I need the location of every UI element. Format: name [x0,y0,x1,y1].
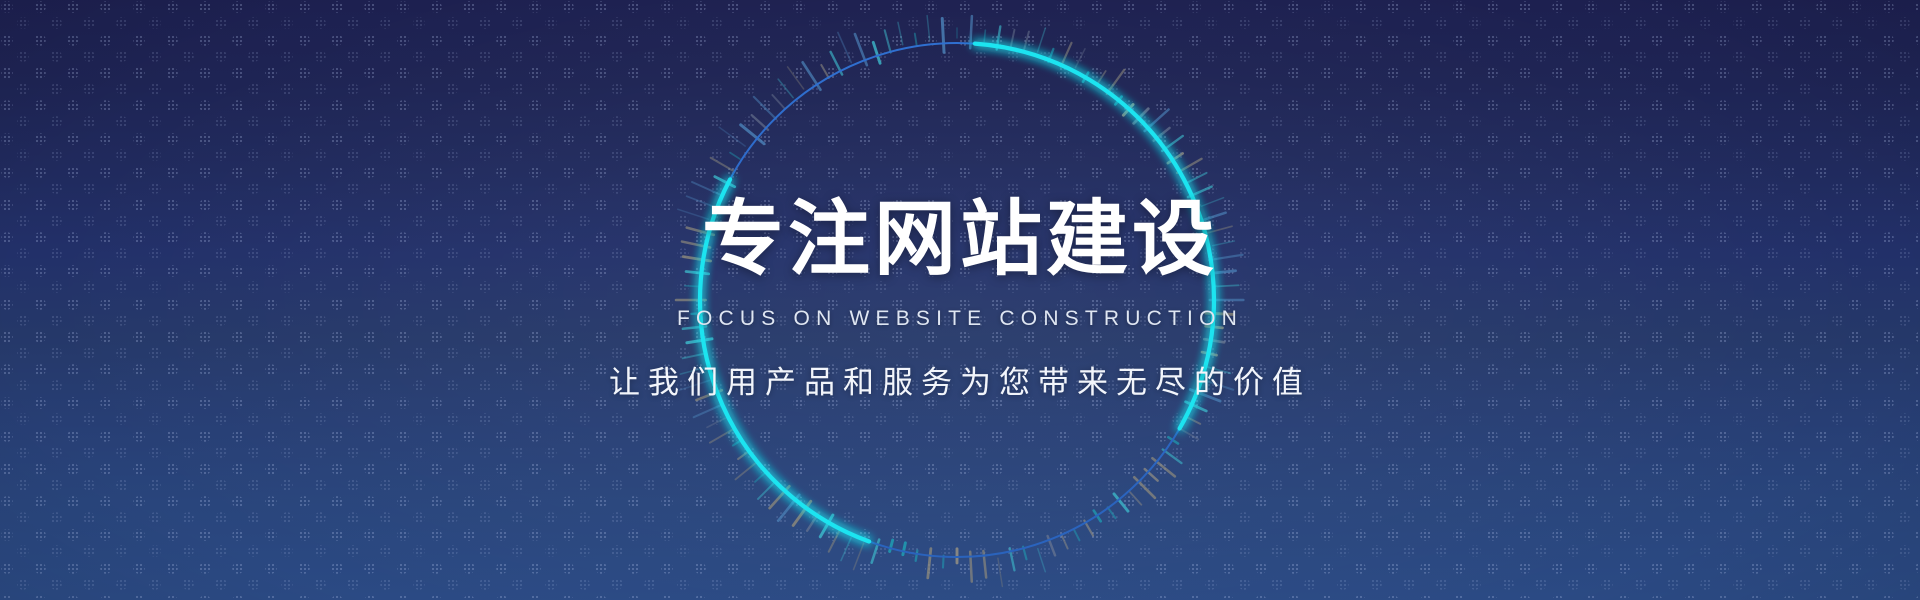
banner-content: 专注网站建设 FOCUS ON WEBSITE CONSTRUCTION 让我们… [0,0,1920,600]
hero-banner: 专注网站建设 FOCUS ON WEBSITE CONSTRUCTION 让我们… [0,0,1920,600]
subtitle-english: FOCUS ON WEBSITE CONSTRUCTION [677,307,1243,331]
page-title: 专注网站建设 [702,199,1218,281]
tagline-chinese: 让我们用产品和服务为您带来无尽的价值 [609,357,1311,402]
